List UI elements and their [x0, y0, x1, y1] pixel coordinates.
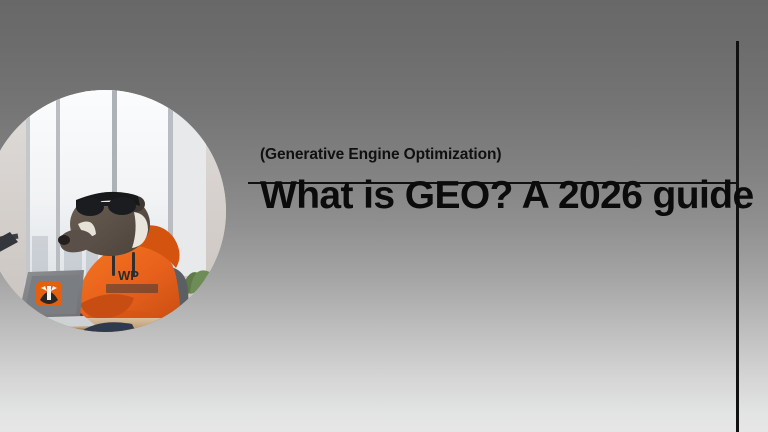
- page-title: What is GEO? A 2026 guide: [260, 175, 730, 217]
- heading-block: (Generative Engine Optimization) What is…: [260, 146, 730, 217]
- vertical-rule-divider: [736, 41, 739, 432]
- featured-image-card: WP: [0, 0, 768, 432]
- hoodie-wordmark: WP: [118, 268, 139, 283]
- laptop-sticker-icon: [36, 282, 62, 306]
- subtitle: (Generative Engine Optimization): [260, 146, 730, 163]
- avatar: WP: [0, 90, 226, 332]
- avatar-illustration: WP: [0, 90, 226, 332]
